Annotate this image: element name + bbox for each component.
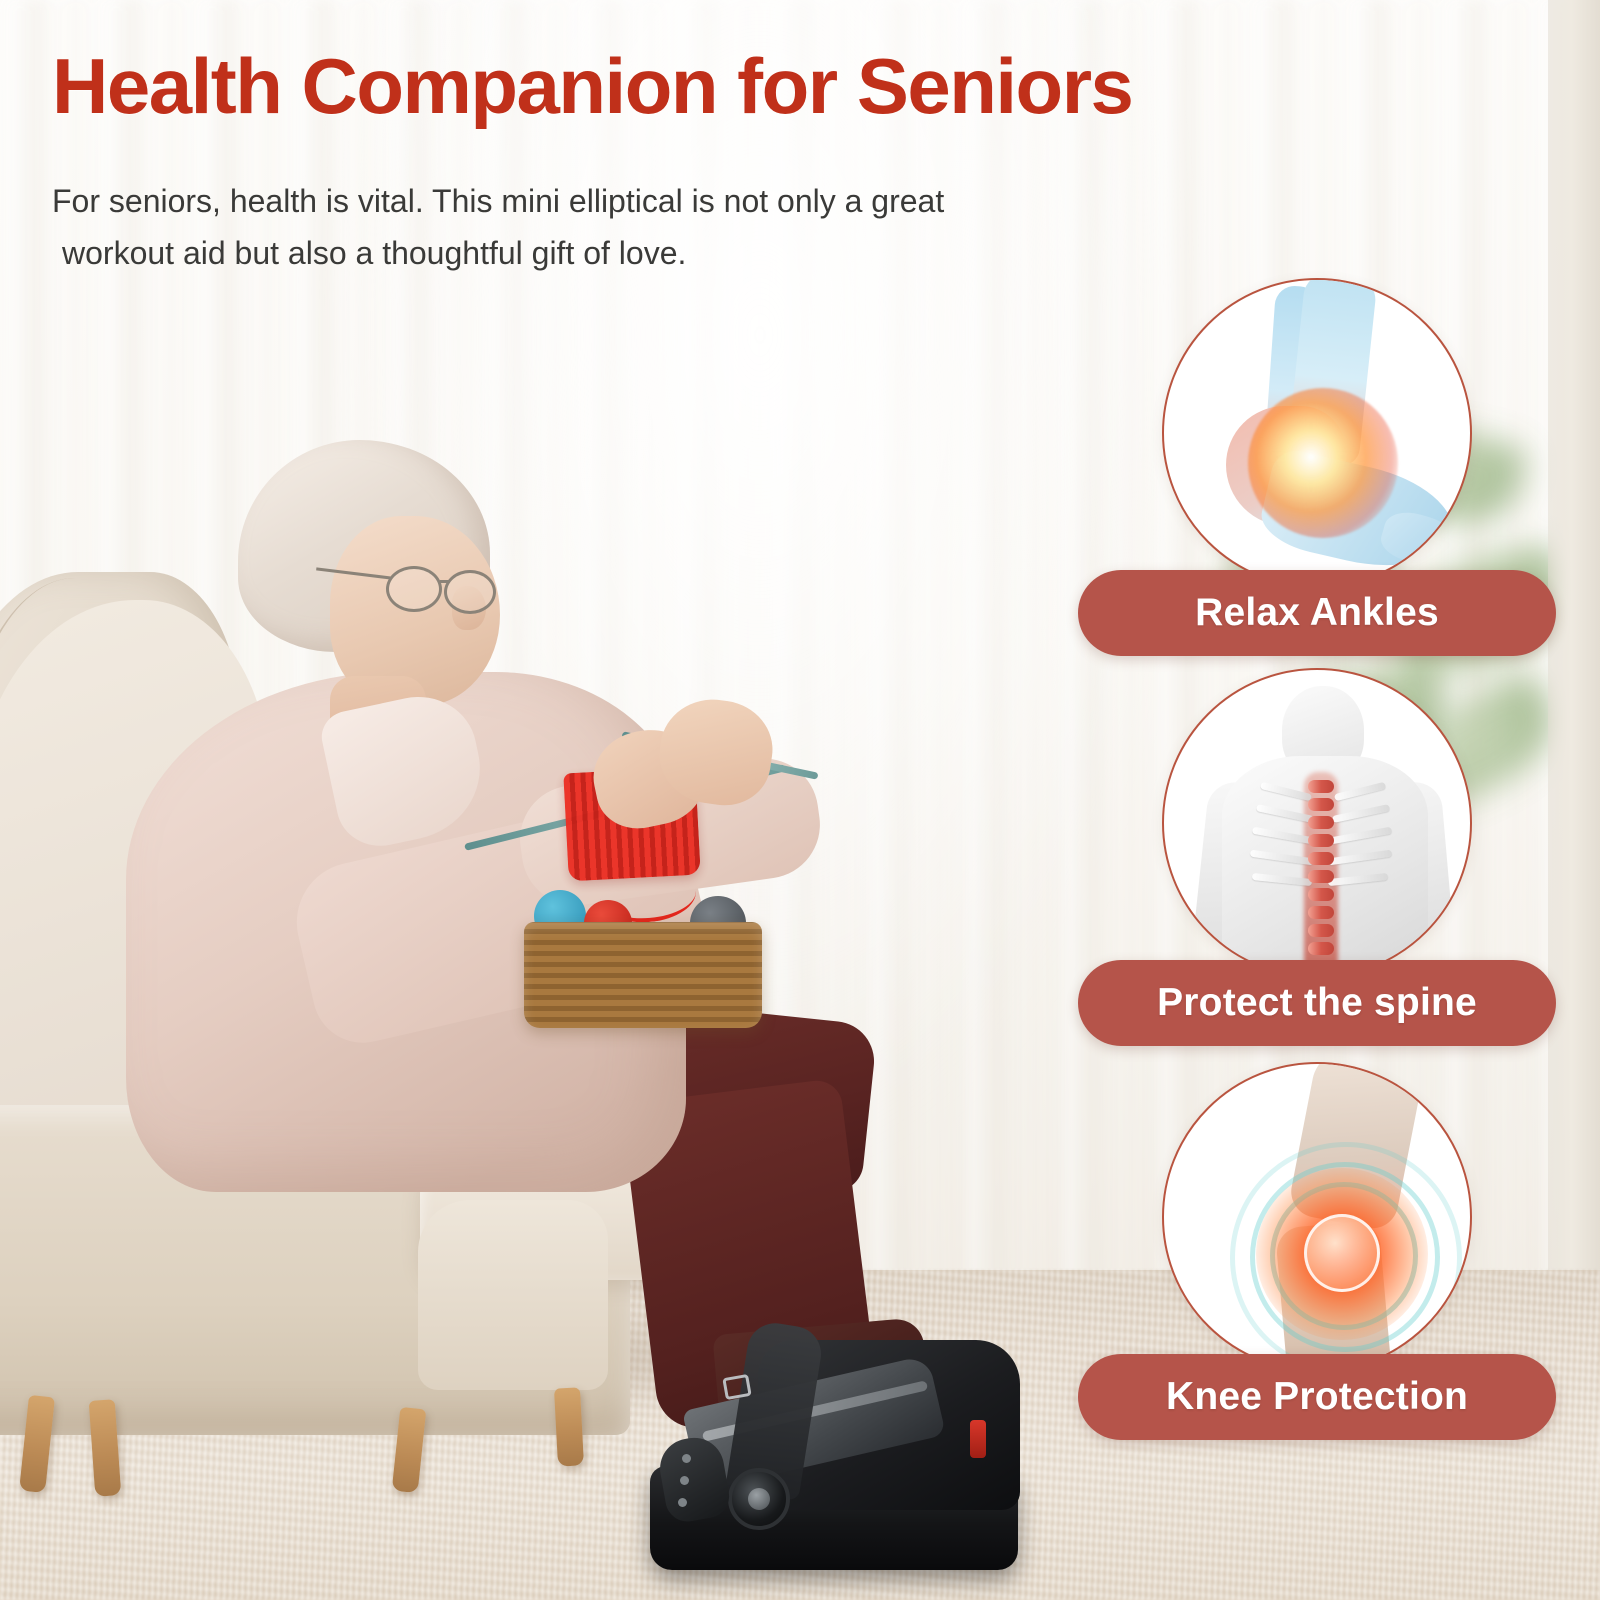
shoe-buckle xyxy=(722,1374,751,1400)
eyeglasses-lens-left xyxy=(386,566,442,612)
ankle-anatomy-icon xyxy=(1162,278,1472,588)
mini-elliptical-trainer xyxy=(640,1278,1030,1600)
spine-anatomy-icon xyxy=(1162,668,1472,978)
dial-dot xyxy=(682,1454,691,1463)
dial-dot xyxy=(678,1498,687,1507)
elliptical-red-accent xyxy=(970,1420,986,1458)
feature-badge-relax-ankles[interactable]: Relax Ankles xyxy=(1078,570,1556,656)
page-subtitle: For seniors, health is vital. This mini … xyxy=(52,176,1112,280)
eyeglasses-lens-right xyxy=(444,570,496,614)
subtitle-line-2: workout aid but also a thoughtful gift o… xyxy=(52,228,1112,280)
kneecap-highlight xyxy=(1304,1214,1380,1292)
subtitle-line-1: For seniors, health is vital. This mini … xyxy=(52,183,944,219)
elliptical-wheel-hub xyxy=(748,1488,770,1510)
feature-badge-knee-protection[interactable]: Knee Protection xyxy=(1078,1354,1556,1440)
feature-knee-protection[interactable]: Knee Protection xyxy=(1078,1062,1556,1442)
dial-dot xyxy=(680,1476,689,1485)
knee-anatomy-icon xyxy=(1162,1062,1472,1372)
wicker-yarn-basket xyxy=(524,922,762,1028)
feature-protect-the-spine[interactable]: Protect the spine xyxy=(1078,668,1556,1048)
feature-label: Knee Protection xyxy=(1166,1375,1468,1419)
eyeglasses-bridge xyxy=(440,580,450,583)
feature-label: Protect the spine xyxy=(1157,981,1477,1025)
feature-badge-protect-the-spine[interactable]: Protect the spine xyxy=(1078,960,1556,1046)
page-title: Health Companion for Seniors xyxy=(52,46,1132,127)
feature-label: Relax Ankles xyxy=(1195,591,1439,635)
pain-point-glow xyxy=(1248,388,1398,538)
feature-relax-ankles[interactable]: Relax Ankles xyxy=(1078,278,1556,658)
